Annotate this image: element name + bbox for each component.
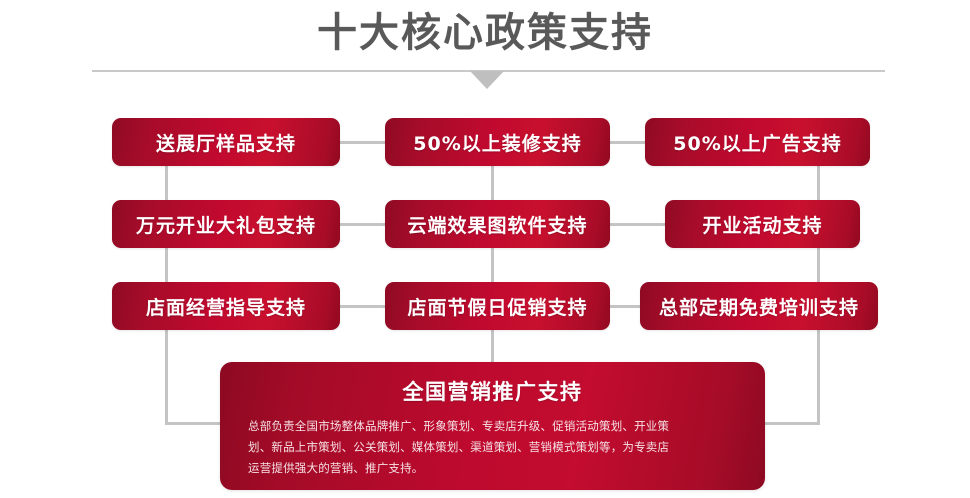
connector-r3c3-panel-vertical xyxy=(817,330,820,425)
connector-r1c3-r2c3 xyxy=(817,166,820,200)
policy-box-opening-event[interactable]: 开业活动支持 xyxy=(665,200,860,248)
policy-box-label: 云端效果图软件支持 xyxy=(407,211,587,238)
connector-r3c1-panel-horizontal xyxy=(165,422,223,425)
policy-box-opening-gift-package[interactable]: 万元开业大礼包支持 xyxy=(112,200,340,248)
connector-r3c2-panel xyxy=(491,330,494,364)
policy-box-label: 50%以上装修支持 xyxy=(413,129,581,156)
connector-r2c2-r3c2 xyxy=(491,248,494,282)
connector-r2c2-r2c3 xyxy=(610,223,665,226)
policy-box-label: 万元开业大礼包支持 xyxy=(136,211,316,238)
connector-r2c1-r2c2 xyxy=(340,223,385,226)
panel-description-line: 划、新品上市策划、公关策划、媒体策划、渠道策划、营销模式策划等，为专卖店 xyxy=(248,437,737,458)
connector-r1c2-r2c2 xyxy=(491,166,494,200)
panel-title: 全国营销推广支持 xyxy=(220,376,765,406)
connector-r2c1-r3c1 xyxy=(165,248,168,282)
policy-box-cloud-rendering-software[interactable]: 云端效果图软件支持 xyxy=(385,200,610,248)
chevron-down-icon xyxy=(470,71,504,89)
connector-r3c1-panel-vertical xyxy=(165,330,168,425)
connector-r3c1-r3c2 xyxy=(340,305,385,308)
policy-box-decoration-subsidy[interactable]: 50%以上装修支持 xyxy=(385,118,610,166)
policy-box-show-room-sample[interactable]: 送展厅样品支持 xyxy=(112,118,340,166)
connector-r3c2-r3c3 xyxy=(610,305,640,308)
national-marketing-panel[interactable]: 全国营销推广支持 总部负责全国市场整体品牌推广、形象策划、专卖店升级、促销活动策… xyxy=(220,362,765,490)
connector-r1c1-r1c2 xyxy=(340,141,385,144)
policy-box-label: 总部定期免费培训支持 xyxy=(659,293,859,320)
connector-r1c1-r2c1 xyxy=(165,166,168,200)
connector-r2c3-r3c3 xyxy=(817,248,820,282)
panel-description: 总部负责全国市场整体品牌推广、形象策划、专卖店升级、促销活动策划、开业策 划、新… xyxy=(248,416,737,479)
page-title: 十大核心政策支持 xyxy=(0,6,970,60)
panel-description-line: 运营提供强大的营销、推广支持。 xyxy=(248,458,737,479)
policy-box-store-operation-guidance[interactable]: 店面经营指导支持 xyxy=(112,282,340,330)
policy-box-advertising-subsidy[interactable]: 50%以上广告支持 xyxy=(645,118,870,166)
policy-box-label: 开业活动支持 xyxy=(702,211,822,238)
policy-box-label: 50%以上广告支持 xyxy=(673,129,841,156)
policy-box-holiday-promotion[interactable]: 店面节假日促销支持 xyxy=(385,282,610,330)
panel-description-line: 总部负责全国市场整体品牌推广、形象策划、专卖店升级、促销活动策划、开业策 xyxy=(248,416,737,437)
policy-box-label: 店面节假日促销支持 xyxy=(407,293,587,320)
connector-r1c2-r1c3 xyxy=(610,141,645,144)
policy-box-headquarters-training[interactable]: 总部定期免费培训支持 xyxy=(640,282,878,330)
policy-box-label: 店面经营指导支持 xyxy=(146,293,306,320)
policy-box-label: 送展厅样品支持 xyxy=(156,129,296,156)
infographic-canvas: 十大核心政策支持 送展厅样品支持 50%以上装修支持 50%以上广告支持 万元开… xyxy=(0,0,970,498)
connector-r3c3-panel-horizontal xyxy=(762,422,820,425)
